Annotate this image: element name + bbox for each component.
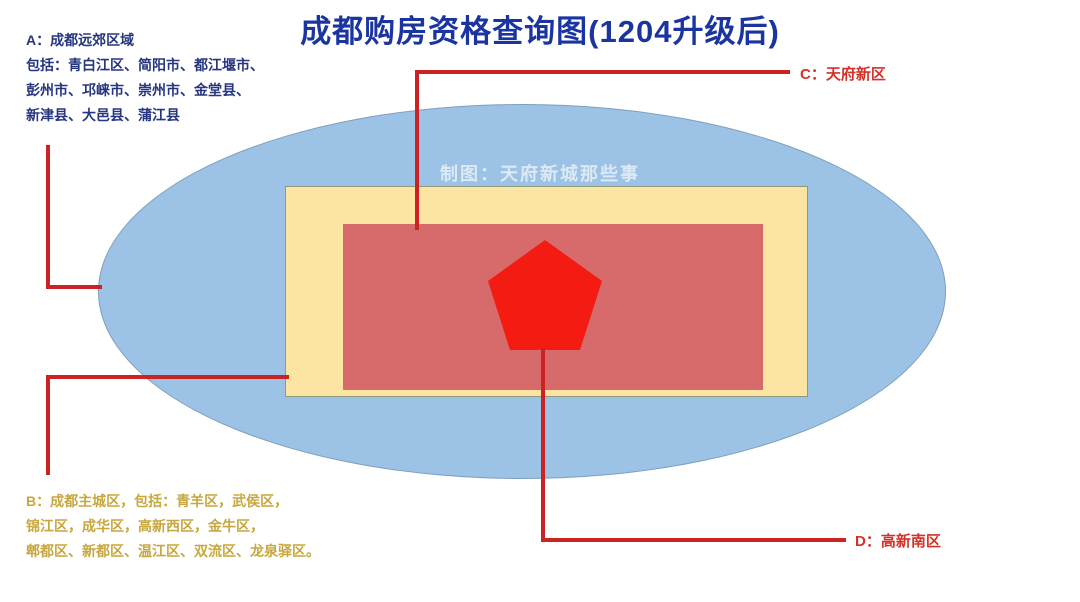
legend-a-line-3: 新津县、大邑县、蒲江县 (26, 103, 264, 128)
legend-a-outer-suburbs: A：成都远郊区域 包括：青白江区、简阳市、都江堰市、 彭州市、邛崃市、崇州市、金… (26, 28, 264, 128)
leader-line-a-horizontal (46, 285, 102, 289)
leader-line-c-vertical (415, 70, 419, 230)
diagram-canvas: 成都购房资格查询图(1204升级后) 制图：天府新城那些事 A：成都远郊区域 包… (0, 0, 1080, 602)
legend-a-heading: A：成都远郊区域 (26, 28, 264, 53)
watermark-text: 制图：天府新城那些事 (0, 160, 1080, 186)
label-c-tianfu-new-area: C：天府新区 (800, 63, 886, 84)
leader-line-c-horizontal (415, 70, 790, 74)
legend-b-line-3: 郫都区、新都区、温江区、双流区、龙泉驿区。 (26, 539, 320, 564)
legend-b-line-2: 锦江区，成华区，高新西区，金牛区， (26, 514, 320, 539)
legend-b-main-city: B：成都主城区，包括：青羊区，武侯区， 锦江区，成华区，高新西区，金牛区， 郫都… (26, 489, 320, 564)
leader-line-b-horizontal (46, 375, 289, 379)
legend-b-line-1: B：成都主城区，包括：青羊区，武侯区， (26, 489, 320, 514)
leader-line-d-horizontal (541, 538, 846, 542)
leader-line-b-vertical (46, 375, 50, 475)
leader-line-d-vertical (541, 348, 545, 540)
label-d-gaoxin-south: D：高新南区 (855, 530, 941, 551)
leader-line-a-vertical (46, 145, 50, 289)
zone-d-pentagon-gaoxin-south (486, 240, 604, 353)
legend-a-line-2: 彭州市、邛崃市、崇州市、金堂县、 (26, 78, 264, 103)
legend-a-line-1: 包括：青白江区、简阳市、都江堰市、 (26, 53, 264, 78)
